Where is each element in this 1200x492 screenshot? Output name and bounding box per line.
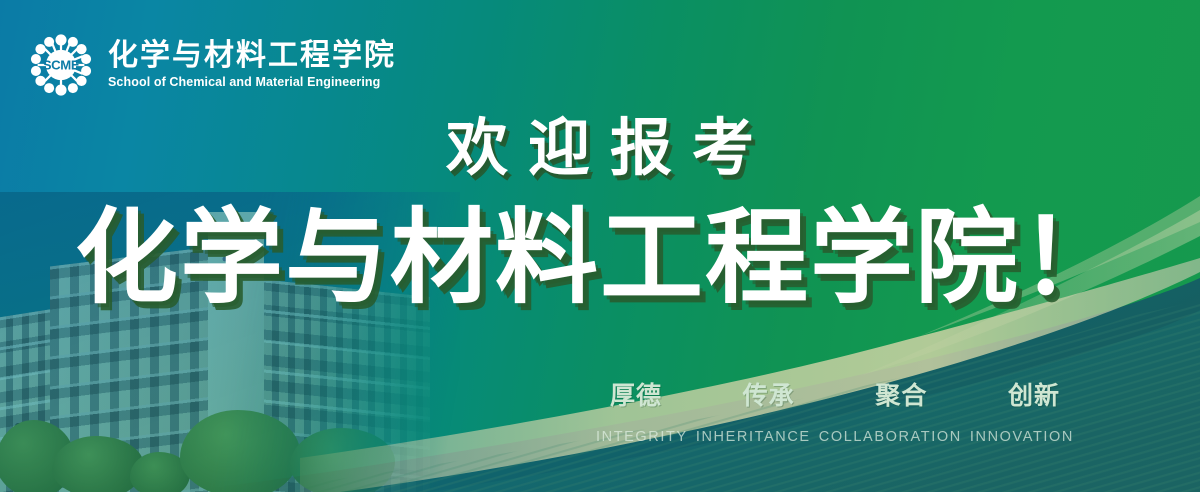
motto-en-innovation: INNOVATION <box>970 429 1074 445</box>
motto-en-inheritance: INHERITANCE <box>696 429 811 445</box>
svg-text:SCME: SCME <box>43 57 80 72</box>
headline-eyebrow: 欢迎报考 <box>0 118 1200 180</box>
logo-name-cn: 化学与材料工程学院 <box>108 39 396 73</box>
motto-cn-innovation: 创新 <box>1008 376 1060 412</box>
motto-chinese-row: 厚德 传承 聚合 创新 <box>596 376 1074 412</box>
scme-circular-emblem-icon: SCME <box>28 32 94 98</box>
logo-name-en: School of Chemical and Material Engineer… <box>108 75 396 91</box>
college-motto: 厚德 传承 聚合 创新 INTEGRITY INHERITANCE COLLAB… <box>596 376 1074 445</box>
motto-cn-integrity: 厚德 <box>610 376 662 412</box>
headline-title: 化学与材料工程学院！ <box>0 206 1200 309</box>
headline-block: 欢迎报考 化学与材料工程学院！ <box>0 118 1200 309</box>
recruitment-banner: SCME 化学与材料工程学院 School of Chemical and Ma… <box>0 0 1200 492</box>
motto-en-collaboration: COLLABORATION <box>819 429 962 445</box>
motto-cn-inheritance: 传承 <box>743 376 795 412</box>
college-logo[interactable]: SCME 化学与材料工程学院 School of Chemical and Ma… <box>28 32 396 98</box>
motto-cn-collaboration: 聚合 <box>875 376 927 412</box>
motto-english-row: INTEGRITY INHERITANCE COLLABORATION INNO… <box>596 429 1074 445</box>
motto-en-integrity: INTEGRITY <box>596 429 688 445</box>
